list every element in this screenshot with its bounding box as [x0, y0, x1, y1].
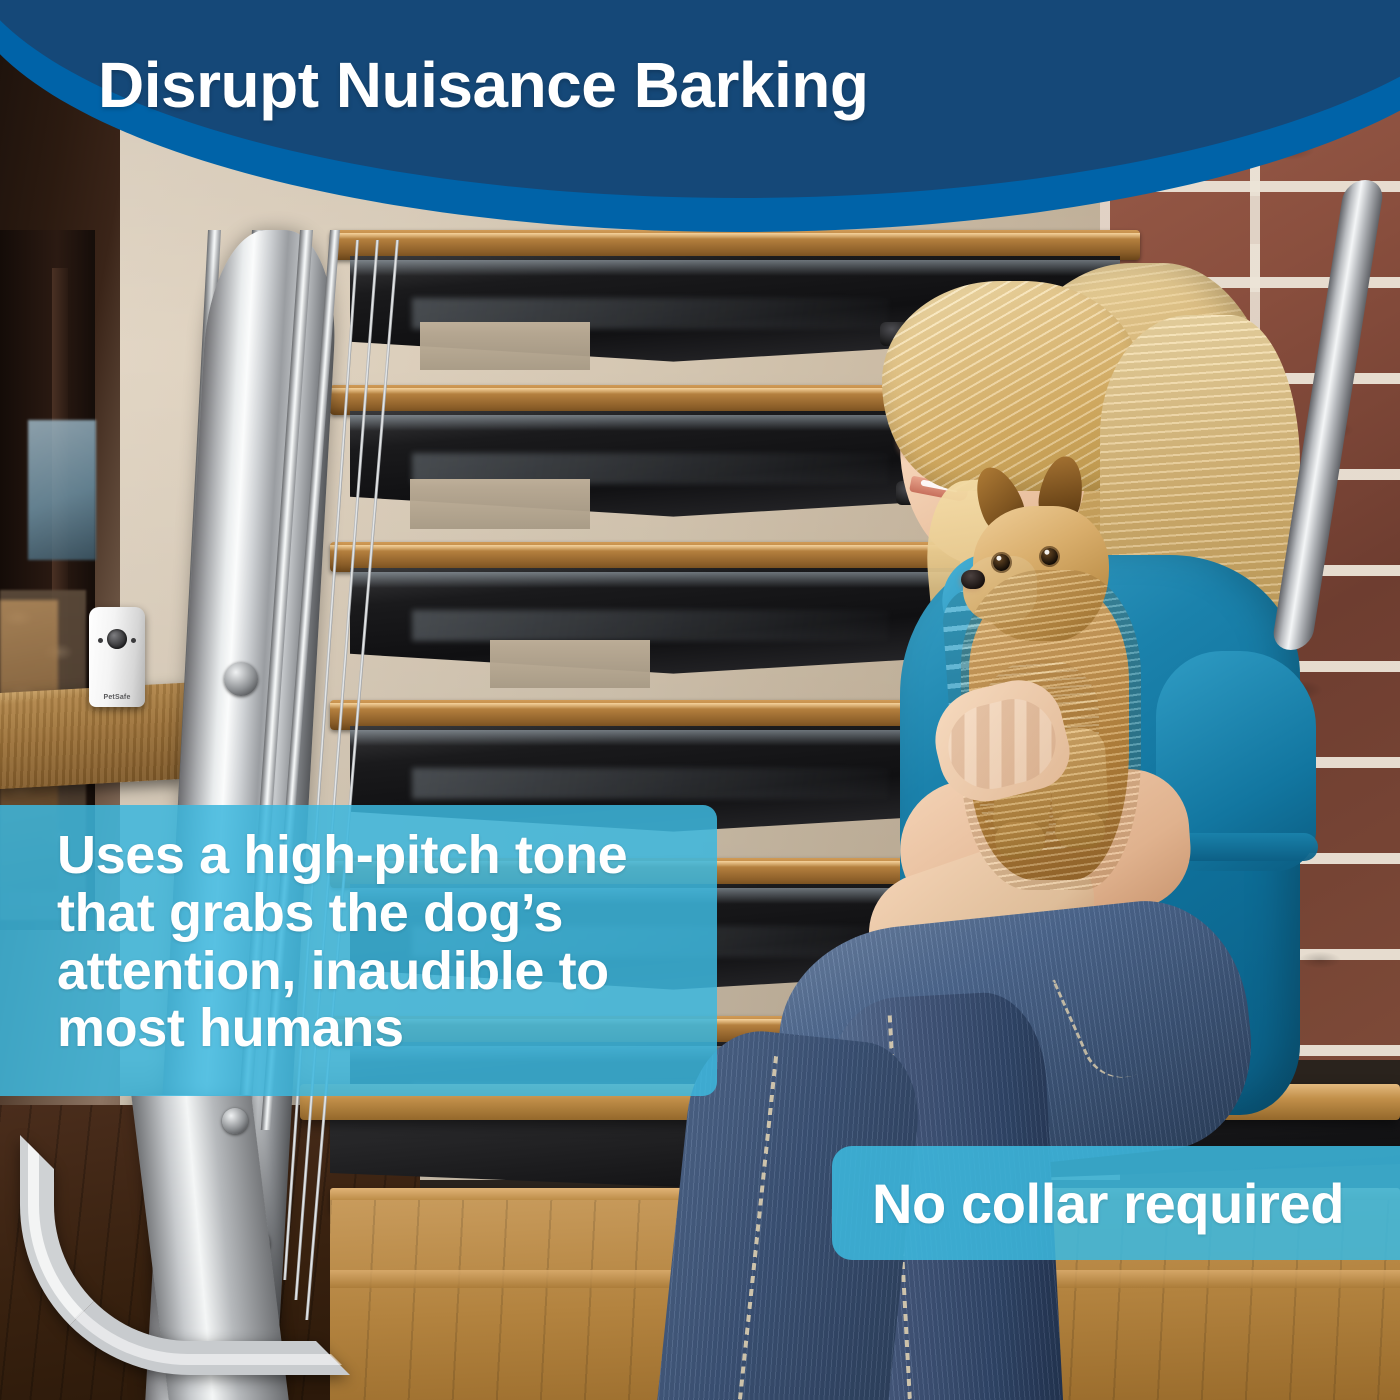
rail-fitting — [222, 1108, 248, 1134]
primary-callout: Uses a high-pitch tone that grabs the do… — [0, 805, 717, 1096]
sleeve-hem — [1172, 833, 1318, 861]
background-picture — [28, 420, 96, 560]
primary-callout-text: Uses a high-pitch tone that grabs the do… — [57, 827, 687, 1058]
promo-image: PetSafe — [0, 0, 1400, 1400]
secondary-callout: No collar required — [832, 1146, 1400, 1260]
device-brand-label: PetSafe — [89, 694, 145, 701]
secondary-callout-text: No collar required — [872, 1171, 1344, 1236]
rail-fitting — [224, 662, 258, 696]
petsafe-device: PetSafe — [89, 607, 145, 707]
indicator-led — [98, 638, 103, 643]
page-title: Disrupt Nuisance Barking — [98, 48, 868, 122]
dog-nose — [961, 570, 985, 589]
indicator-led — [131, 638, 136, 643]
ultrasonic-speaker-icon — [107, 629, 127, 649]
dog-yorkshire-terrier — [955, 470, 1175, 890]
